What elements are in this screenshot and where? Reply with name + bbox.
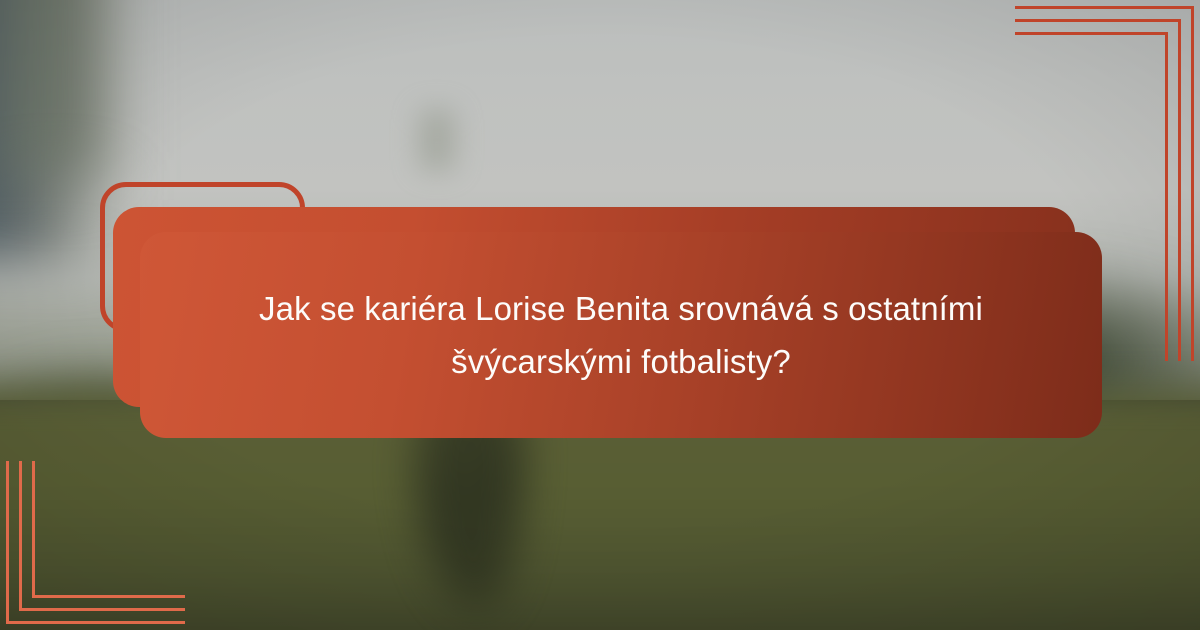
social-card-canvas: Jak se kariéra Lorise Benita srovnává s … — [0, 0, 1200, 630]
headline-card: Jak se kariéra Lorise Benita srovnává s … — [140, 232, 1102, 438]
headline-text: Jak se kariéra Lorise Benita srovnává s … — [140, 282, 1102, 389]
